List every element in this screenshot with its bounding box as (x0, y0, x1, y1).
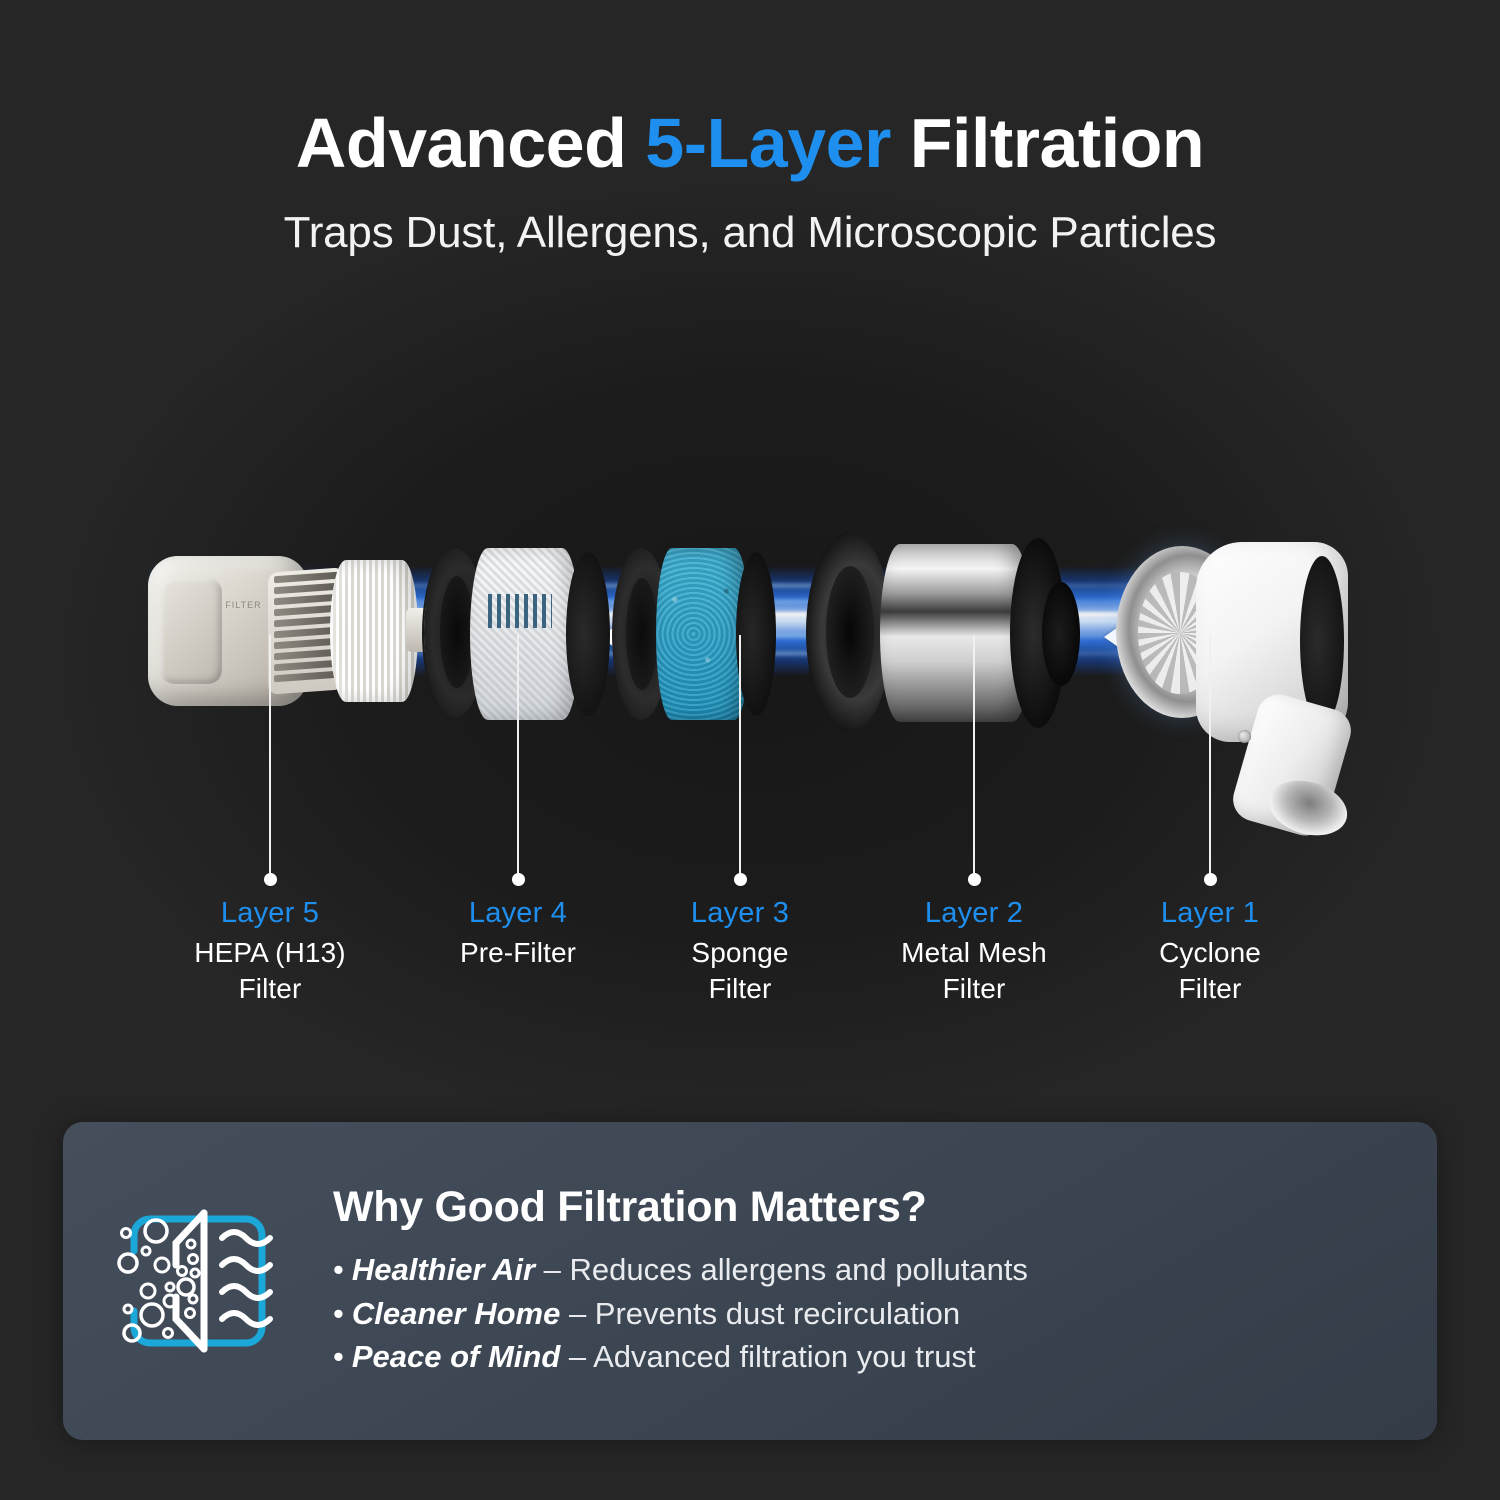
why-filtration-panel: Why Good Filtration Matters? •Healthier … (63, 1122, 1437, 1440)
header: Advanced 5-Layer Filtration Traps Dust, … (0, 108, 1500, 258)
metal-mesh-bore (826, 566, 874, 698)
leader-dot (264, 873, 277, 886)
sponge-filter-bore (626, 578, 658, 690)
leader-line (517, 635, 519, 880)
layer-name-line1: Sponge (620, 935, 860, 971)
title-accent: 5-Layer (645, 104, 891, 182)
page-subtitle: Traps Dust, Allergens, and Microscopic P… (0, 208, 1500, 258)
benefit-dash: – (560, 1339, 593, 1374)
metal-mesh-end-nub (1042, 582, 1080, 686)
list-item: •Peace of Mind – Advanced filtration you… (333, 1335, 1028, 1378)
leader-dot (1204, 873, 1217, 886)
layer-number-label: Layer 5 (150, 895, 390, 931)
callout-layer-2[interactable]: Layer 2 Metal Mesh Filter (854, 895, 1094, 1007)
benefit-term: Healthier Air (352, 1252, 535, 1287)
benefits-list: •Healthier Air – Reduces allergens and p… (333, 1248, 1028, 1378)
benefit-term: Cleaner Home (352, 1296, 560, 1331)
leader-line (269, 635, 271, 880)
callout-layer-1[interactable]: Layer 1 Cyclone Filter (1090, 895, 1330, 1007)
filter-membrane-icon (63, 1122, 333, 1440)
layer-name-line2: Filter (150, 971, 390, 1007)
title-part2: Filtration (891, 104, 1204, 182)
layer-number-label: Layer 2 (854, 895, 1094, 931)
layer-name-line2: Filter (1090, 971, 1330, 1007)
layer-name-line2: Filter (854, 971, 1094, 1007)
leader-dot (968, 873, 981, 886)
callout-layer-5[interactable]: Layer 5 HEPA (H13) Filter (150, 895, 390, 1007)
pre-filter-end-cap (566, 552, 610, 716)
list-item: •Healthier Air – Reduces allergens and p… (333, 1248, 1028, 1291)
panel-text-block: Why Good Filtration Matters? •Healthier … (333, 1183, 1068, 1378)
panel-title: Why Good Filtration Matters? (333, 1183, 1028, 1232)
layer-name-line1: HEPA (H13) (150, 935, 390, 971)
leader-line (973, 635, 975, 880)
pre-filter-mesh-body (470, 548, 580, 720)
callout-layer-4[interactable]: Layer 4 Pre-Filter (398, 895, 638, 971)
benefit-desc: Reduces allergens and pollutants (570, 1252, 1028, 1287)
page-title: Advanced 5-Layer Filtration (0, 108, 1500, 178)
leader-line (1209, 635, 1211, 880)
cyclone-rear-cap (1300, 556, 1344, 726)
bullet-glyph: • (333, 1296, 344, 1331)
title-part1: Advanced (296, 104, 646, 182)
layer-number-label: Layer 1 (1090, 895, 1330, 931)
list-item: •Cleaner Home – Prevents dust recirculat… (333, 1292, 1028, 1335)
pre-filter-marking (488, 594, 552, 628)
hepa-end-cap (160, 578, 222, 684)
pre-filter-bore (440, 576, 474, 688)
leader-line (739, 635, 741, 880)
cyclone-screw-icon (1238, 730, 1251, 743)
layer-number-label: Layer 3 (620, 895, 860, 931)
layer-name-line1: Metal Mesh (854, 935, 1094, 971)
leader-dot (734, 873, 747, 886)
layer-name-line2: Filter (620, 971, 860, 1007)
layer-name-line1: Pre-Filter (398, 935, 638, 971)
benefit-term: Peace of Mind (352, 1339, 560, 1374)
layer-name-line1: Cyclone (1090, 935, 1330, 971)
callout-layer-3[interactable]: Layer 3 Sponge Filter (620, 895, 860, 1007)
benefit-dash: – (535, 1252, 569, 1287)
leader-dot (512, 873, 525, 886)
layer-number-label: Layer 4 (398, 895, 638, 931)
bullet-glyph: • (333, 1339, 344, 1374)
benefit-dash: – (560, 1296, 594, 1331)
bullet-glyph: • (333, 1252, 344, 1287)
sponge-filter-end-cap (736, 552, 776, 716)
benefit-desc: Advanced filtration you trust (593, 1339, 976, 1374)
hepa-pleated-media (330, 560, 418, 702)
benefit-desc: Prevents dust recirculation (595, 1296, 960, 1331)
